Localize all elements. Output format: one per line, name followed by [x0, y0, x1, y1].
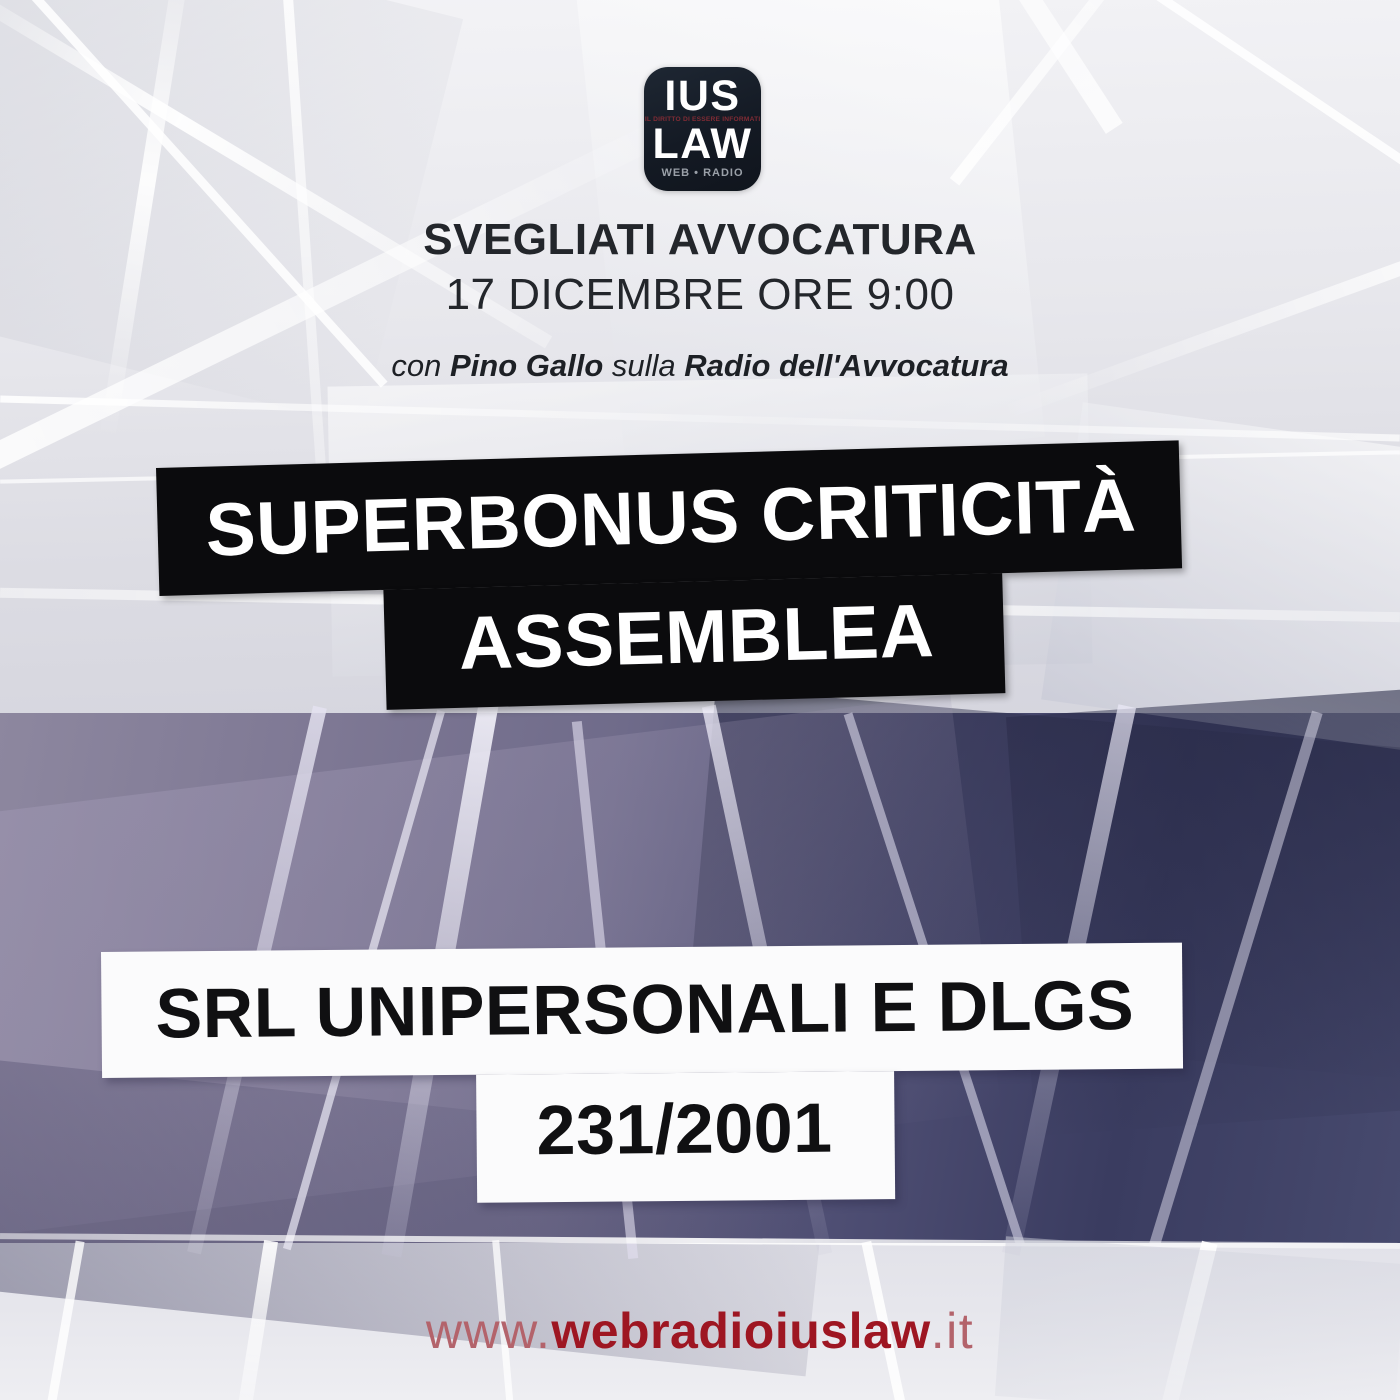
logo-line-ius: IUS	[664, 76, 740, 116]
website-url[interactable]: www.webradioiuslaw.it	[0, 1302, 1400, 1360]
black-banner-line-2: ASSEMBLEA	[383, 573, 1005, 710]
broadcast-datetime: 17 DICEMBRE ORE 9:00	[0, 266, 1400, 324]
url-tld: .it	[931, 1303, 974, 1359]
white-banner-row-1: SRL UNIPERSONALI E DLGS	[101, 941, 1330, 1078]
url-domain: webradioiuslaw	[551, 1303, 930, 1359]
credit-prefix: con	[391, 348, 450, 383]
iuslaw-logo: IUS IL DIRITTO DI ESSERE INFORMATI LAW W…	[644, 67, 761, 191]
show-title: SVEGLIATI AVVOCATURA	[0, 214, 1400, 266]
host-credit-line: con Pino Gallo sulla Radio dell'Avvocatu…	[0, 347, 1400, 385]
channel-name: Radio dell'Avvocatura	[684, 348, 1008, 383]
poster-canvas: IUS IL DIRITTO DI ESSERE INFORMATI LAW W…	[0, 0, 1400, 1400]
white-banner-row-2: 231/2001	[476, 1067, 1331, 1202]
white-title-banner: SRL UNIPERSONALI E DLGS 231/2001	[101, 941, 1331, 1206]
white-banner-line-1: SRL UNIPERSONALI E DLGS	[101, 943, 1183, 1078]
black-banner-row-2: ASSEMBLEA	[383, 566, 1274, 710]
url-scheme-www: www.	[426, 1303, 551, 1359]
logo-tagline-strip: IL DIRITTO DI ESSERE INFORMATI	[645, 116, 761, 124]
header-block: SVEGLIATI AVVOCATURA 17 DICEMBRE ORE 9:0…	[0, 214, 1400, 324]
logo-subtitle-webradio: WEB • RADIO	[661, 165, 743, 181]
white-banner-line-2: 231/2001	[476, 1071, 895, 1203]
host-name: Pino Gallo	[450, 348, 603, 383]
credit-middle: sulla	[603, 348, 684, 383]
black-title-banner: SUPERBONUS CRITICITÀ ASSEMBLEA	[156, 438, 1274, 716]
logo-line-law: LAW	[652, 124, 752, 164]
